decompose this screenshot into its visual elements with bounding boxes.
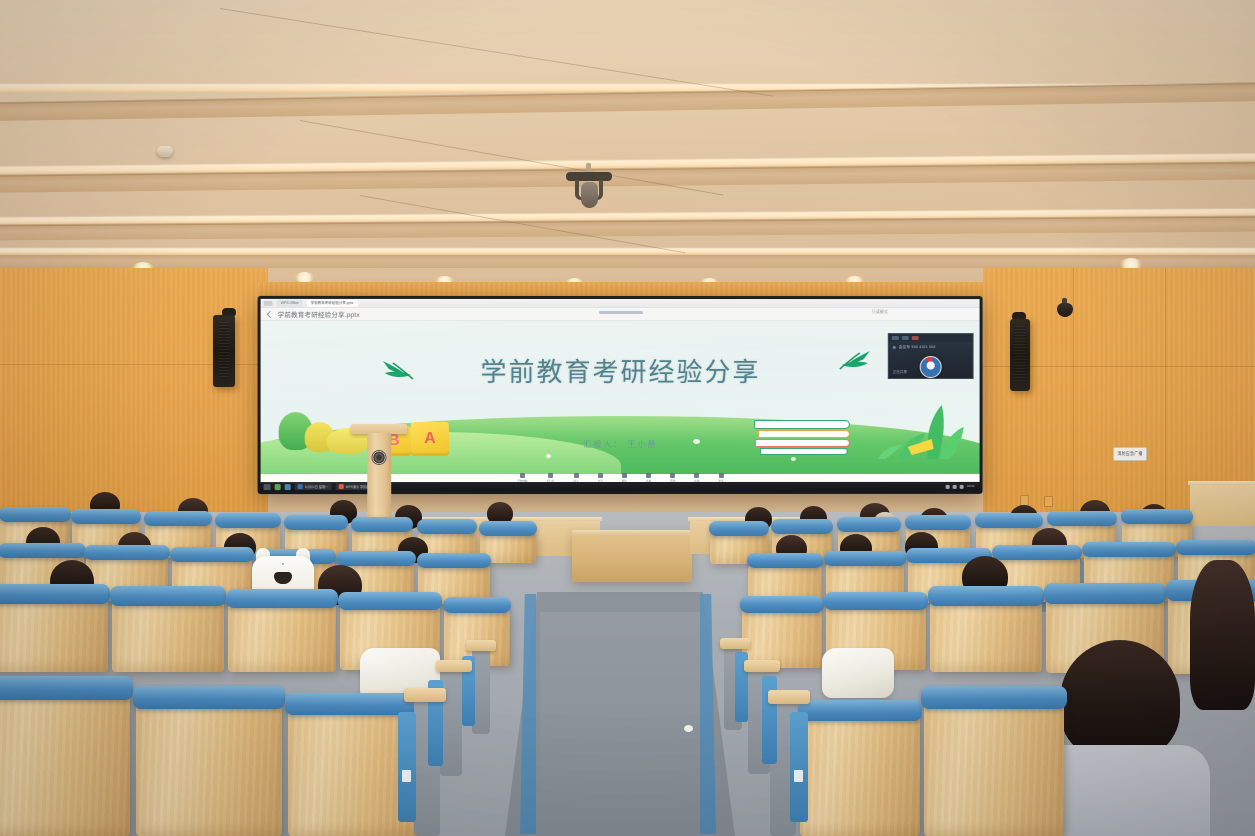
seat-row-near[interactable] — [930, 598, 1042, 672]
slide-block-a: A — [411, 422, 449, 456]
slide-grass-dot — [546, 454, 551, 458]
audience-head-foreground — [1060, 640, 1180, 760]
seat-row-near[interactable] — [112, 598, 224, 672]
slides-icon — [548, 473, 553, 478]
seat-side-accent — [790, 712, 808, 822]
text-icon — [598, 473, 603, 478]
seat-number-tag — [794, 770, 803, 782]
back-chevron-icon[interactable] — [267, 310, 274, 317]
seat-number-tag — [402, 770, 411, 782]
seat-row-near[interactable] — [742, 606, 822, 668]
side-desk-far-right — [1190, 484, 1255, 526]
slideshow-progress-pill[interactable] — [598, 311, 642, 314]
wps-titlebar[interactable]: WPS Office 学前教育考研经验分享.pptx — [261, 299, 980, 308]
video-call-meeting-id: 会议号 935 4321 002 — [899, 345, 936, 350]
seat-row-frontmost[interactable] — [136, 700, 282, 836]
shape-icon — [670, 473, 675, 478]
block-letter-a: A — [424, 431, 436, 447]
institution-emblem-icon — [920, 356, 942, 378]
seat-row-near[interactable] — [228, 600, 336, 672]
slide-books-illustration — [754, 420, 862, 456]
aisle-accent-stripe — [700, 594, 716, 834]
slide-leaf-illustration — [868, 403, 964, 464]
insert-icon — [574, 473, 579, 478]
seat-armrest[interactable] — [466, 640, 496, 651]
audience-head-foreground — [1190, 560, 1255, 710]
taskbar-app-label: 11月01日 星期一 — [305, 484, 329, 489]
close-icon[interactable] — [912, 336, 919, 340]
transition-icon — [694, 473, 699, 478]
backpack-face-patch — [274, 572, 292, 584]
file-name-label: 学前教育考研经验分享.pptx — [278, 309, 360, 319]
wall-speaker-left — [213, 315, 235, 387]
calendar-icon — [298, 484, 303, 489]
aisle-accent-stripe — [520, 594, 536, 834]
seat-armrest[interactable] — [720, 638, 750, 649]
wps-mode-label: 只读模式 — [872, 309, 888, 315]
slide-swallow-icon — [838, 349, 872, 371]
slide-title: 学前教育考研经验分享 — [440, 359, 800, 388]
explorer-icon[interactable] — [275, 484, 281, 490]
seat-side-accent — [398, 712, 416, 822]
wps-tab-file[interactable]: 学前教育考研经验分享.pptx — [307, 299, 358, 306]
university-emblem-icon — [372, 450, 387, 465]
side-desk-far-right-lip — [1188, 481, 1255, 485]
maximize-icon[interactable] — [902, 336, 909, 340]
video-call-status: 正在共享 — [893, 370, 907, 375]
wall-speaker-right — [1010, 319, 1030, 391]
network-icon[interactable] — [946, 484, 950, 488]
seat-row-frontmost[interactable] — [800, 712, 920, 836]
more-icon — [719, 473, 724, 478]
table-icon — [646, 473, 651, 478]
video-call-titlebar[interactable] — [889, 334, 973, 342]
seat-row-frontmost[interactable] — [0, 690, 130, 836]
smoke-detector-icon — [157, 146, 173, 157]
seat-row-near[interactable] — [0, 596, 108, 672]
slide-swallow-icon — [381, 359, 415, 381]
seat-armrest[interactable] — [436, 660, 472, 672]
wall-outlet — [1044, 496, 1053, 507]
slide-grass-dot — [791, 457, 796, 461]
white-jacket — [822, 648, 894, 698]
taskbar-clock[interactable]: 10:21 — [967, 485, 974, 488]
wall-sign-text: 消防应急广播 — [1117, 451, 1142, 458]
video-call-panel[interactable]: 会议号 935 4321 002 正在共享 — [888, 333, 974, 379]
lecture-hall-scene: 消防应急广播 WPS Office 学前教育考研经验分享.pptx 学前教育考研… — [0, 0, 1255, 836]
browser-icon[interactable] — [285, 484, 291, 490]
start-icon[interactable] — [264, 484, 271, 490]
taskbar-app[interactable]: 11月01日 星期一 — [295, 483, 332, 490]
floor-object — [684, 725, 693, 732]
ceiling — [0, 0, 1255, 300]
battery-icon[interactable] — [960, 484, 964, 488]
play-icon — [520, 473, 525, 478]
wps-tab-home[interactable]: WPS Office — [277, 299, 303, 306]
floor-reflection — [540, 612, 700, 812]
wall-left — [0, 268, 268, 526]
backpack-logo: ● — [282, 561, 284, 566]
status-dot-icon — [893, 346, 896, 349]
slide-presenter-line: 汇报人： 王小册 — [583, 439, 657, 450]
minimize-icon[interactable] — [892, 336, 899, 340]
slide-grass-dot — [693, 439, 700, 444]
wall-sign-plate: 消防应急广播 — [1113, 447, 1147, 461]
wps-icon — [338, 484, 343, 489]
volume-icon[interactable] — [953, 484, 957, 488]
system-tray[interactable]: 10:21 — [946, 484, 976, 488]
image-icon — [622, 473, 627, 478]
seat-armrest[interactable] — [768, 690, 810, 704]
wps-logo-icon — [264, 300, 273, 305]
seat-armrest[interactable] — [404, 688, 446, 702]
seat-armrest[interactable] — [744, 660, 780, 672]
seat-row-frontmost[interactable] — [924, 700, 1064, 836]
front-console-desk — [572, 530, 692, 582]
